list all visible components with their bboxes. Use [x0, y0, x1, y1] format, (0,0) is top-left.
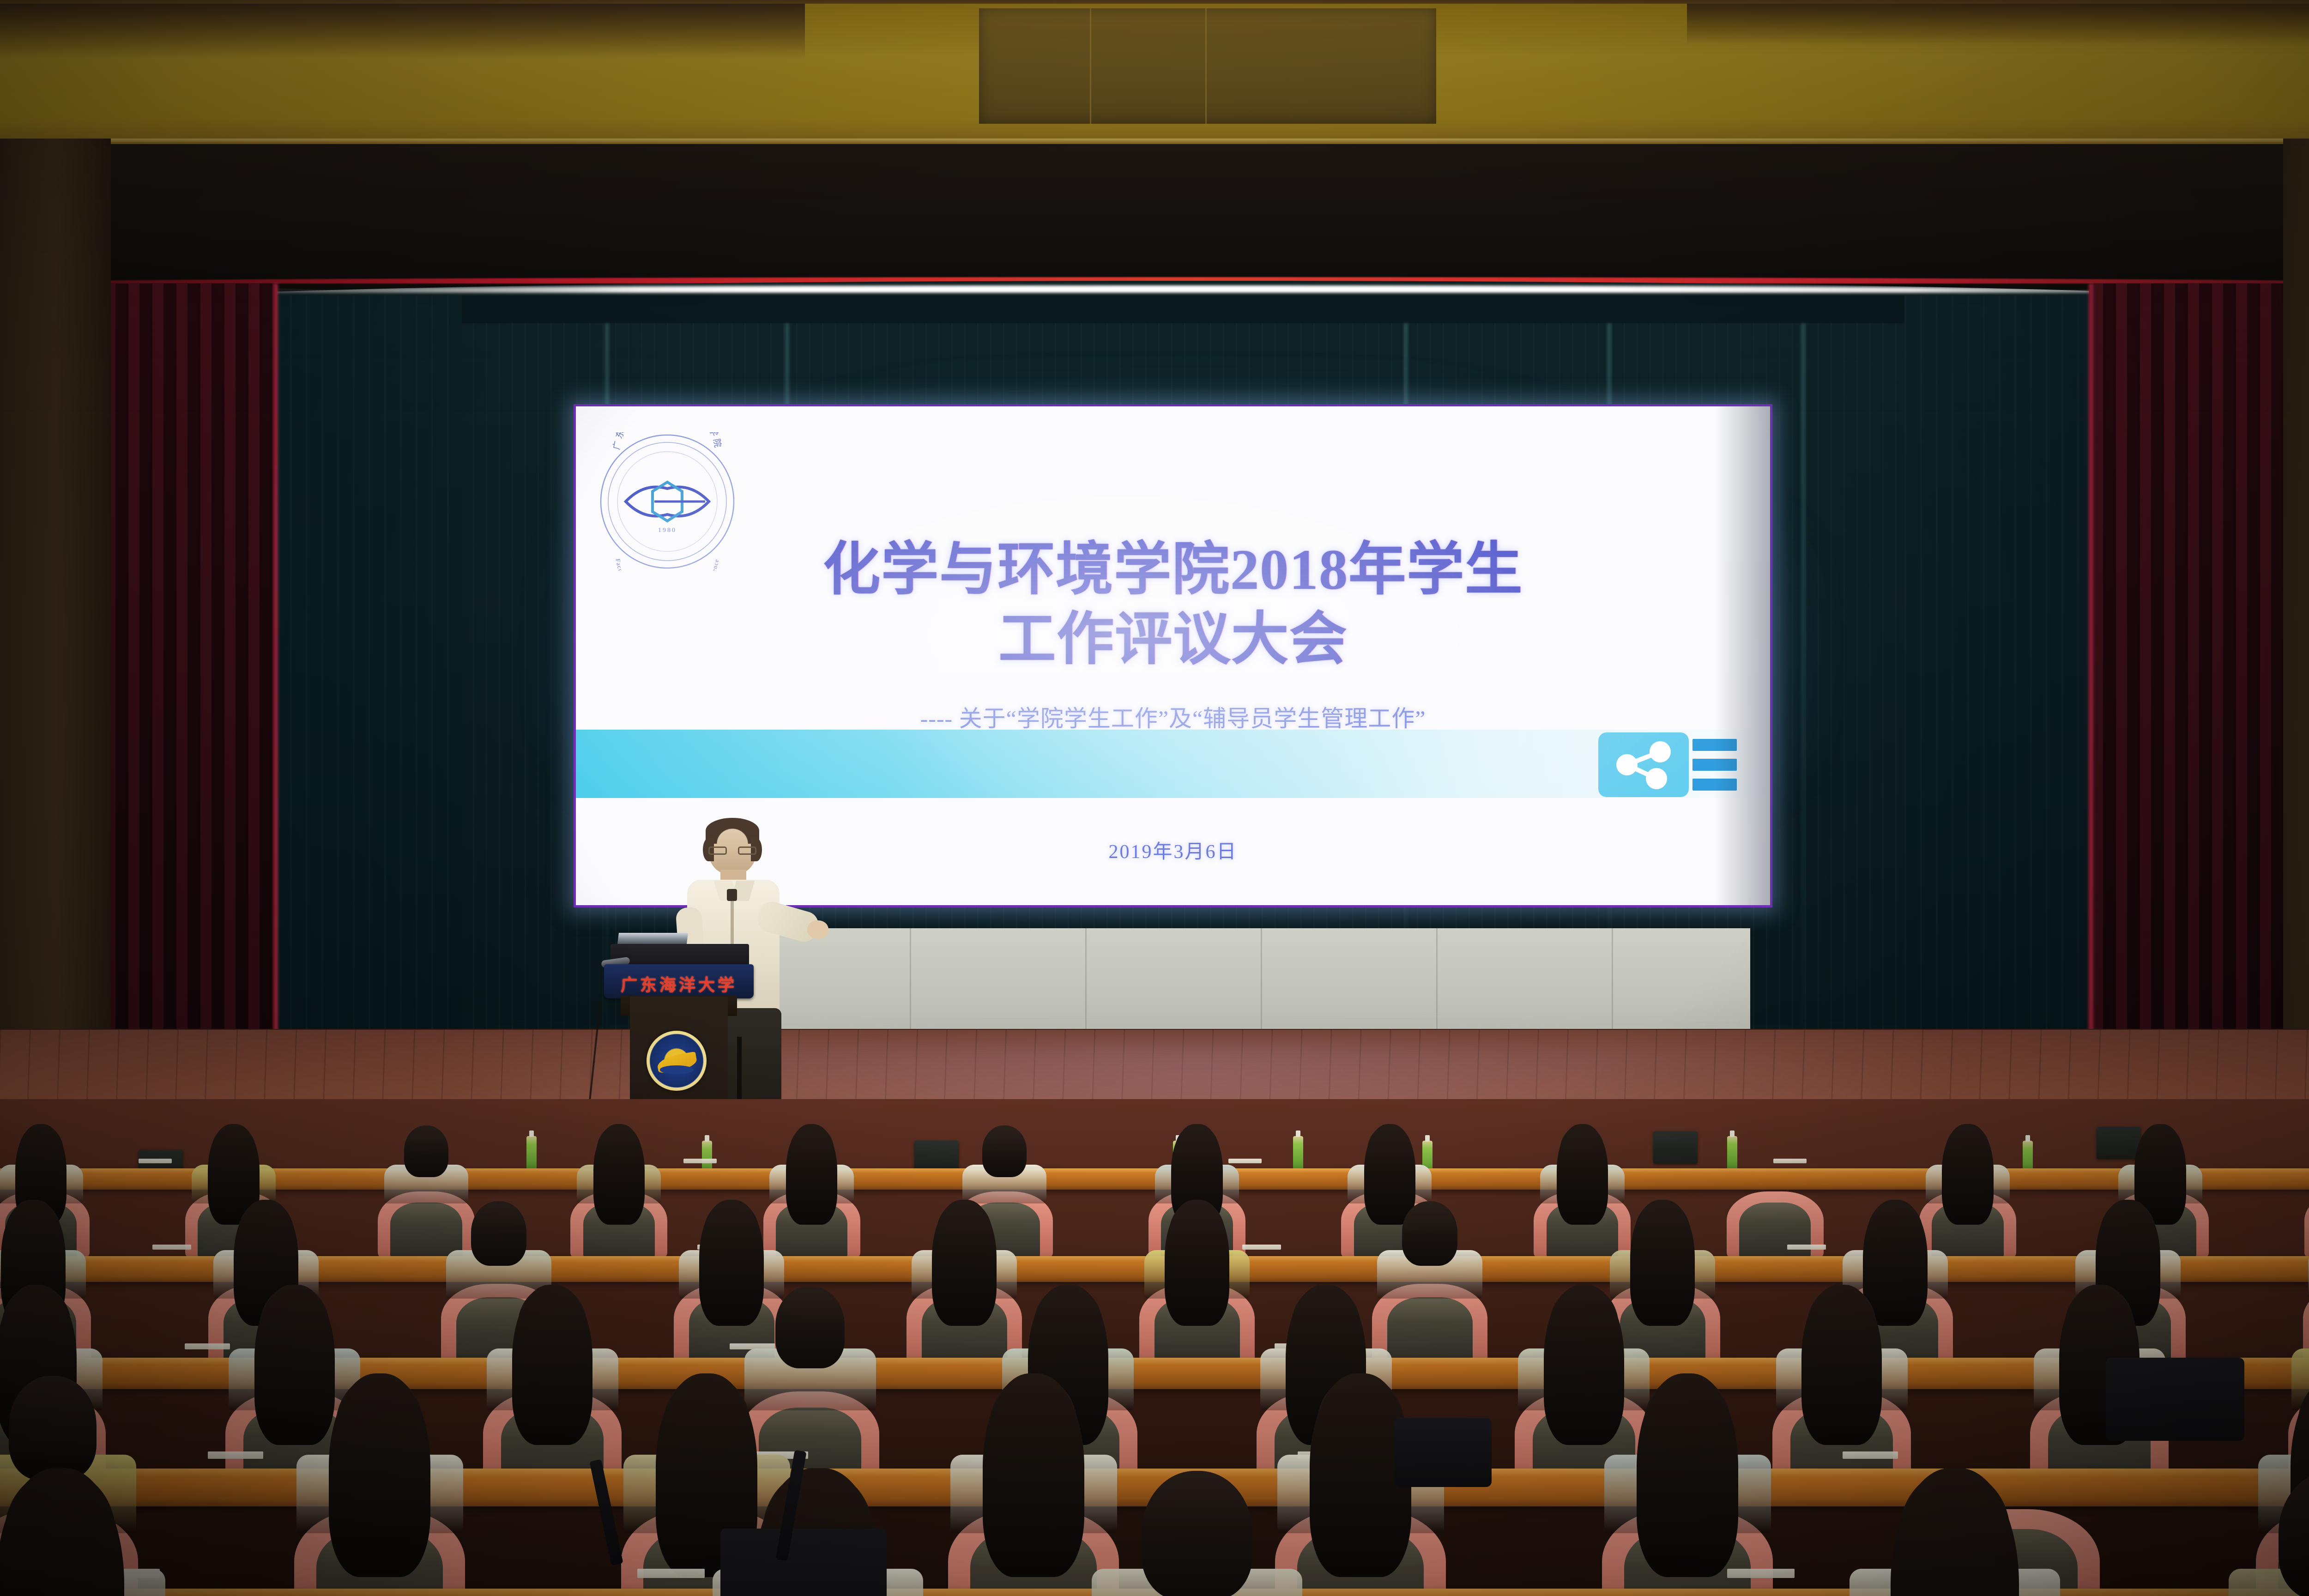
chair-cushion	[390, 1203, 462, 1259]
university-emblem	[647, 1031, 707, 1091]
student-long-hair	[329, 1373, 430, 1577]
student-long-hair	[1544, 1285, 1624, 1445]
desk-paper	[1843, 1451, 1898, 1459]
student-long-hair	[1630, 1200, 1694, 1326]
backdrop-panel-right	[1904, 296, 2108, 1062]
student-long-hair	[593, 1124, 645, 1225]
desk-paper	[208, 1451, 263, 1459]
student-long-hair	[983, 1373, 1084, 1577]
student-long-hair	[932, 1200, 996, 1326]
water-bottle	[1293, 1136, 1303, 1172]
student-head	[9, 1376, 97, 1480]
slide-title-line-1: 化学与环境学院2018年学生	[576, 535, 1770, 605]
student-long-hair	[1557, 1124, 1608, 1225]
stage-header-shadow	[0, 144, 2309, 296]
curtain-edge-highlight-left	[272, 284, 279, 1069]
tote-bag	[1395, 1418, 1492, 1487]
seal-year: 1980	[658, 527, 677, 534]
proscenium-column-right	[2283, 139, 2309, 1099]
desk-paper	[1242, 1245, 1281, 1250]
presenter-hand	[807, 920, 828, 939]
auditorium-chair[interactable]	[1727, 1191, 1824, 1261]
desk-paper	[1773, 1159, 1807, 1163]
slide-title: 化学与环境学院2018年学生 工作评议大会	[576, 535, 1770, 675]
auditorium-chair[interactable]	[2304, 1191, 2309, 1261]
wall-shadow-left	[0, 4, 805, 59]
student-long-hair	[1364, 1124, 1415, 1225]
slide-accent-band	[576, 730, 1770, 798]
lapel-microphone	[727, 889, 737, 901]
student-long-hair	[1165, 1200, 1229, 1326]
curtain-edge-highlight-right	[2087, 284, 2094, 1069]
chair-cushion	[1387, 1297, 1473, 1366]
stage-curtain-right	[2089, 284, 2309, 1069]
wall-base-molding	[0, 139, 2309, 143]
chair-cushion	[1739, 1203, 1811, 1259]
screen-falloff	[1715, 406, 1770, 905]
wall-shadow-right	[1687, 4, 2309, 45]
slide-title-line-2: 工作评议大会	[576, 605, 1770, 674]
av-monitor	[1653, 1131, 1698, 1164]
student-head	[1142, 1471, 1252, 1596]
desk-paper	[683, 1159, 717, 1163]
share-button[interactable]	[1598, 732, 1689, 797]
student-long-hair	[699, 1200, 763, 1326]
student-long-hair	[1637, 1373, 1738, 1577]
student-head	[982, 1125, 1027, 1177]
student-head	[471, 1201, 526, 1266]
backpack	[720, 1529, 887, 1596]
av-monitor	[2097, 1127, 2141, 1159]
desk-paper	[1787, 1245, 1826, 1250]
backdrop-panel-left	[259, 296, 462, 1062]
student-long-hair	[1863, 1200, 1927, 1326]
share-icon	[1598, 732, 1689, 797]
desk-paper	[637, 1569, 705, 1578]
slide-subtitle: ---- 关于“学院学生工作”及“辅导员学生管理工作”	[576, 700, 1770, 733]
desk-paper	[1727, 1569, 1795, 1578]
desk-paper	[185, 1343, 230, 1349]
student-long-hair	[1801, 1285, 1882, 1445]
desk-paper	[139, 1159, 172, 1163]
water-bottle	[526, 1136, 537, 1172]
student-long-hair	[254, 1285, 335, 1445]
lectern-plaque-text: 广东海洋大学	[604, 972, 754, 996]
student-long-hair	[512, 1285, 592, 1445]
auditorium-photo: 广东海洋大学化学与环境学院 Faculty of Chemistry and E…	[0, 0, 2309, 1596]
water-bottle	[1727, 1136, 1737, 1172]
student-long-hair	[1942, 1124, 1993, 1225]
student-head	[1402, 1201, 1457, 1266]
chair-frame	[2304, 1191, 2309, 1261]
student-head	[775, 1286, 845, 1368]
student-head	[404, 1125, 448, 1177]
presenter-glasses	[708, 846, 756, 855]
proscenium-column-left	[0, 139, 111, 1099]
desk-paper	[1228, 1159, 1262, 1163]
audience-seating	[0, 1099, 2309, 1596]
desk-paper	[152, 1245, 191, 1250]
backpack	[2106, 1358, 2244, 1441]
lectern-plaque: 广东海洋大学	[604, 964, 754, 998]
ceiling-inset-panel	[979, 8, 1436, 124]
student-long-hair	[786, 1124, 837, 1225]
